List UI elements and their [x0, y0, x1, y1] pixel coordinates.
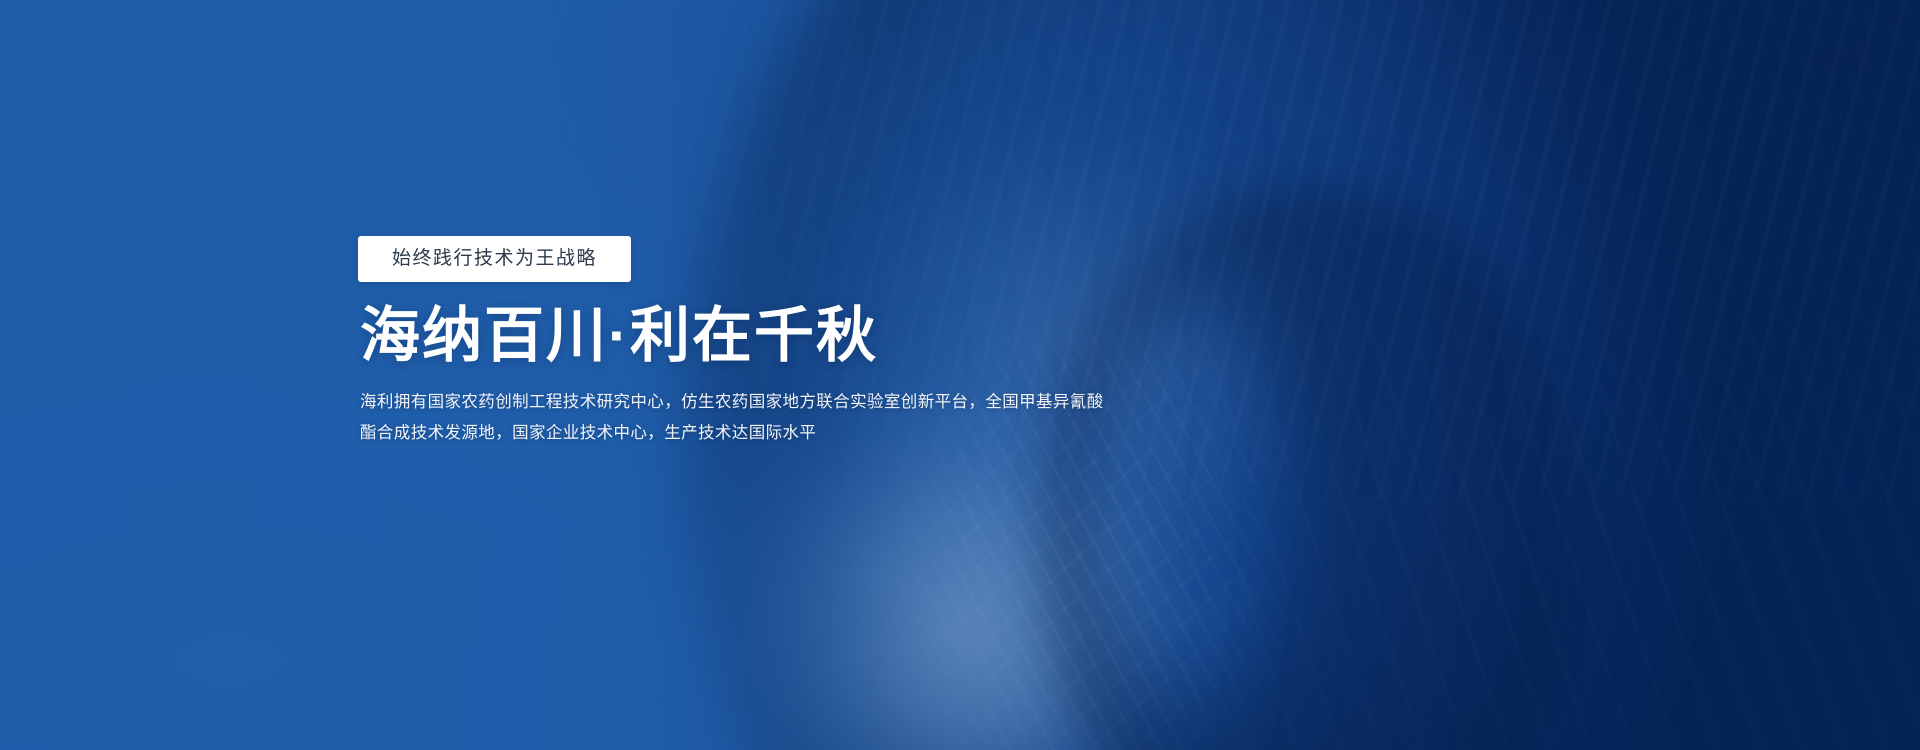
hero-copy-block: 始终践行技术为王战略 海纳百川·利在千秋 海利拥有国家农药创制工程技术研究中心，…	[358, 236, 1278, 449]
hero-banner: 始终践行技术为王战略 海纳百川·利在千秋 海利拥有国家农药创制工程技术研究中心，…	[0, 0, 1920, 750]
hero-description: 海利拥有国家农药创制工程技术研究中心，仿生农药国家地方联合实验室创新平台，全国甲…	[360, 387, 1190, 449]
hero-description-line-2: 酯合成技术发源地，国家企业技术中心，生产技术达国际水平	[360, 418, 1190, 449]
hero-title: 海纳百川·利在千秋	[360, 302, 1278, 369]
hero-description-line-1: 海利拥有国家农药创制工程技术研究中心，仿生农药国家地方联合实验室创新平台，全国甲…	[360, 387, 1190, 418]
tagline-badge: 始终践行技术为王战略	[358, 236, 631, 282]
